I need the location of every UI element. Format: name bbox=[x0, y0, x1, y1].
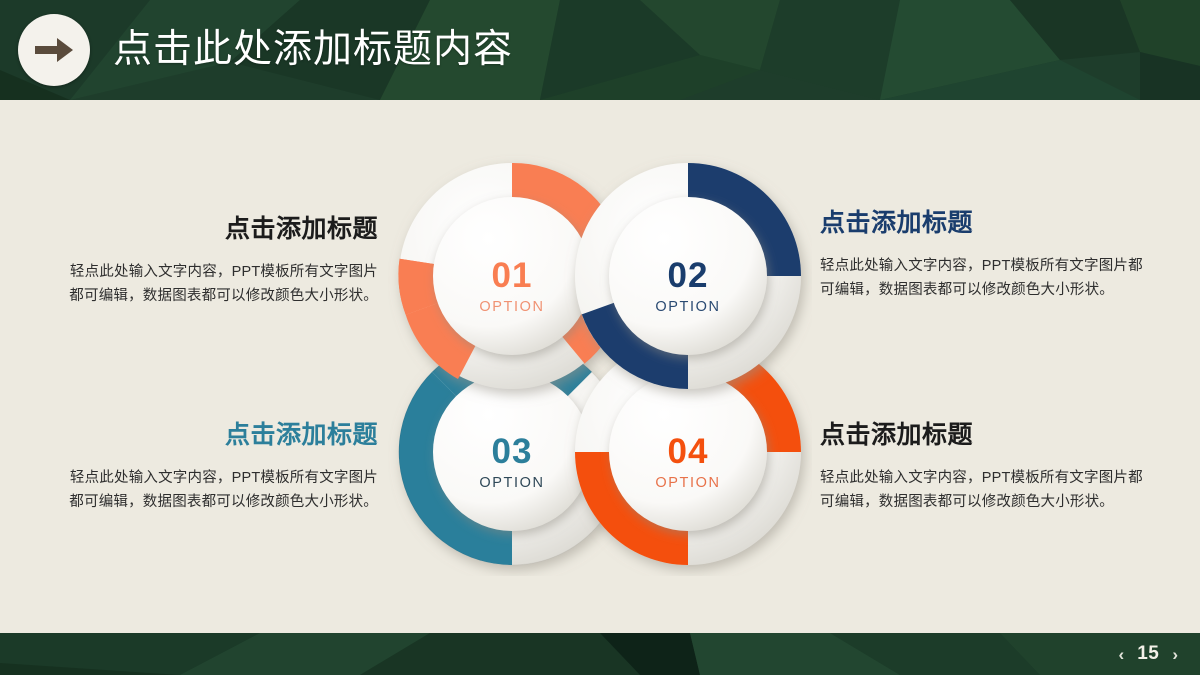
footer-band: ‹ 15 › bbox=[0, 633, 1200, 675]
info-block-03-body: 轻点此处输入文字内容，PPT模板所有文字图片都可编辑，数据图表都可以修改颜色大小… bbox=[60, 466, 378, 514]
info-block-04: 点击添加标题 轻点此处输入文字内容，PPT模板所有文字图片都可编辑，数据图表都可… bbox=[820, 418, 1150, 514]
prev-page-icon[interactable]: ‹ bbox=[1119, 646, 1125, 663]
info-block-01: 点击添加标题 轻点此处输入文字内容，PPT模板所有文字图片都可编辑，数据图表都可… bbox=[60, 212, 378, 308]
info-block-02-title: 点击添加标题 bbox=[820, 206, 1150, 240]
info-block-04-body: 轻点此处输入文字内容，PPT模板所有文字图片都可编辑，数据图表都可以修改颜色大小… bbox=[820, 466, 1150, 514]
page-title: 点击此处添加标题内容 bbox=[113, 22, 513, 78]
donut-02-number: 02 bbox=[668, 256, 709, 295]
footer-polygon-pattern bbox=[0, 633, 1200, 675]
info-block-01-title: 点击添加标题 bbox=[60, 212, 378, 246]
donut-01-label: OPTION bbox=[479, 299, 544, 315]
info-block-04-title: 点击添加标题 bbox=[820, 418, 1150, 452]
donut-01-number: 01 bbox=[492, 256, 533, 295]
donut-04-label: OPTION bbox=[655, 475, 720, 491]
donut-02-label: OPTION bbox=[655, 299, 720, 315]
donut-03-label: OPTION bbox=[479, 475, 544, 491]
slide: 点击此处添加标题内容 点击添加标题 轻点此处输入文字内容，PPT模板所有文字图片… bbox=[0, 0, 1200, 675]
info-block-03-title: 点击添加标题 bbox=[60, 418, 378, 452]
infographic-donuts: 03 OPTION 01 OPTION bbox=[388, 152, 812, 576]
pagination: ‹ 15 › bbox=[1119, 633, 1178, 675]
donut-04-number: 04 bbox=[668, 432, 709, 471]
next-page-icon[interactable]: › bbox=[1172, 646, 1178, 663]
header-band: 点击此处添加标题内容 bbox=[0, 0, 1200, 100]
info-block-02: 点击添加标题 轻点此处输入文字内容，PPT模板所有文字图片都可编辑，数据图表都可… bbox=[820, 206, 1150, 302]
header-arrow-badge[interactable] bbox=[18, 14, 90, 86]
page-number: 15 bbox=[1137, 643, 1159, 665]
info-block-02-body: 轻点此处输入文字内容，PPT模板所有文字图片都可编辑，数据图表都可以修改颜色大小… bbox=[820, 254, 1150, 302]
arrow-right-icon bbox=[33, 35, 75, 65]
info-block-03: 点击添加标题 轻点此处输入文字内容，PPT模板所有文字图片都可编辑，数据图表都可… bbox=[60, 418, 378, 514]
donut-03-number: 03 bbox=[492, 432, 533, 471]
info-block-01-body: 轻点此处输入文字内容，PPT模板所有文字图片都可编辑，数据图表都可以修改颜色大小… bbox=[60, 260, 378, 308]
